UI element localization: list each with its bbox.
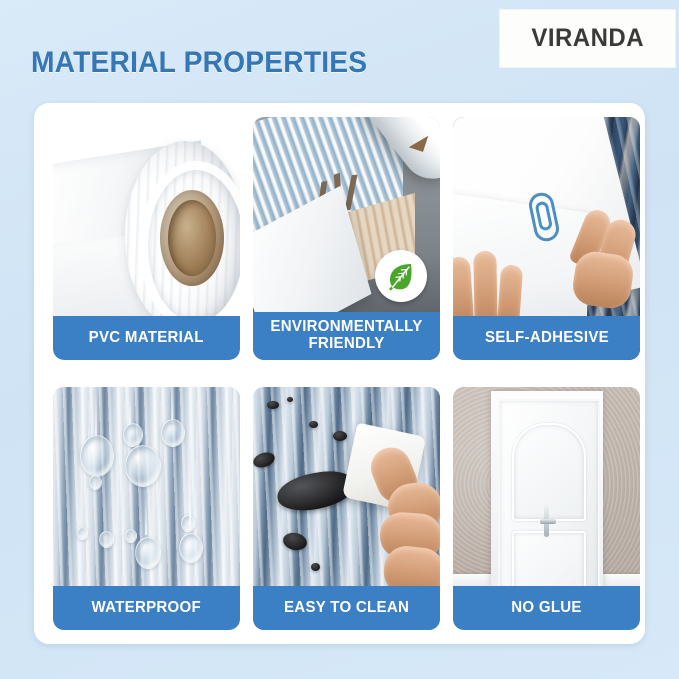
feature-card-pvc-material[interactable]: PVC MATERIAL bbox=[53, 117, 240, 360]
feature-label-waterproof: WATERPROOF bbox=[53, 586, 240, 630]
feature-label-self-adhesive: SELF-ADHESIVE bbox=[453, 316, 640, 360]
brand-name: VIRANDA bbox=[531, 24, 644, 53]
feature-label-easy-to-clean: EASY TO CLEAN bbox=[253, 586, 440, 630]
leaf-icon bbox=[384, 259, 418, 293]
feature-label-no-glue: NO GLUE bbox=[453, 586, 640, 630]
infographic-root: VIRANDA MATERIAL PROPERTIES PVC MATERIAL bbox=[0, 0, 679, 679]
feature-label-text: ENVIRONMENTALLY FRIENDLY bbox=[259, 319, 435, 353]
feature-label-text: NO GLUE bbox=[511, 600, 582, 616]
leaf-badge bbox=[375, 250, 427, 302]
feature-card-no-glue[interactable]: NO GLUE bbox=[453, 387, 640, 630]
feature-label-text: PVC MATERIAL bbox=[89, 330, 204, 346]
feature-card-easy-to-clean[interactable]: EASY TO CLEAN bbox=[253, 387, 440, 630]
page-title: MATERIAL PROPERTIES bbox=[31, 46, 367, 80]
feature-card-waterproof[interactable]: WATERPROOF bbox=[53, 387, 240, 630]
feature-label-environmentally-friendly: ENVIRONMENTALLY FRIENDLY bbox=[253, 312, 440, 360]
feature-label-text: EASY TO CLEAN bbox=[284, 600, 409, 616]
feature-card-self-adhesive[interactable]: SELF-ADHESIVE bbox=[453, 117, 640, 360]
hand-holding-cloth bbox=[358, 447, 440, 587]
feature-label-pvc-material: PVC MATERIAL bbox=[53, 316, 240, 360]
brand-logo-box: VIRANDA bbox=[500, 10, 675, 67]
feature-label-text: SELF-ADHESIVE bbox=[484, 330, 608, 346]
feature-card-environmentally-friendly[interactable]: ENVIRONMENTALLY FRIENDLY bbox=[253, 117, 440, 360]
feature-grid: PVC MATERIAL bbox=[53, 117, 640, 630]
feature-label-text: WATERPROOF bbox=[92, 600, 201, 616]
right-hand bbox=[570, 209, 640, 305]
